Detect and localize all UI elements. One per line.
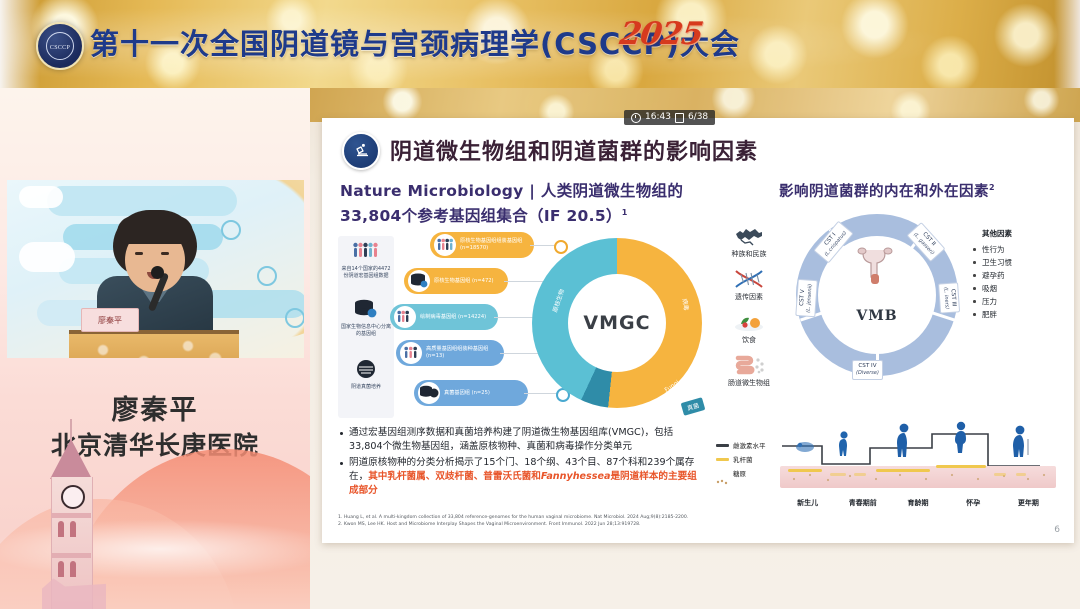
donut-segment-label: 病毒 bbox=[681, 298, 692, 311]
backdrop-card bbox=[19, 186, 63, 208]
vmgc-box: 绘制病毒基因组 (n=14224) bbox=[390, 304, 498, 330]
slide-right-column: 影响阴道菌群的内在和外在因素2 bbox=[714, 180, 1060, 201]
dna-icon bbox=[714, 267, 784, 291]
donut-center: VMGC bbox=[568, 274, 666, 372]
factor-item: 遗传因素 bbox=[714, 267, 784, 302]
stage-label: 青春期前 bbox=[835, 498, 890, 508]
other-factor-item: 压力 bbox=[970, 295, 1060, 308]
podium-texture bbox=[69, 334, 239, 358]
page-icon bbox=[675, 113, 684, 123]
vmgc-box: 真菌基因组 (n=25) bbox=[414, 380, 528, 406]
cst-state-label: CST III (L. iners) bbox=[938, 282, 960, 313]
vmgc-center-label: VMGC bbox=[583, 312, 650, 334]
lifecycle-figure: 雌激素水平 乳杆菌 糖原 bbox=[714, 414, 1060, 510]
stage-label: 新生儿 bbox=[780, 498, 835, 508]
vmgc-box-name: 原核生物基因组 bbox=[434, 278, 470, 284]
uterus-icon bbox=[854, 244, 900, 291]
vmgc-box-name: 真菌基因组 bbox=[444, 390, 470, 396]
other-factor-item: 避孕药 bbox=[970, 269, 1060, 282]
left-bullet-list: 通过宏基因组测序数据和真菌培养构建了阴道微生物基因组库(VMGC)，包括33,8… bbox=[338, 426, 698, 500]
tower-band bbox=[51, 553, 91, 558]
lactobacillus-bar bbox=[854, 473, 866, 476]
microphone-head-icon bbox=[151, 266, 164, 279]
donut-fungi-tag: 真菌 bbox=[681, 397, 706, 416]
legend-swatch-lactobacillus bbox=[716, 458, 729, 461]
connector-line bbox=[524, 393, 560, 394]
cst-species: (L. jensenii) bbox=[806, 283, 815, 313]
vmgc-box: 高质量基因组组装种基因组 (n=13) bbox=[396, 340, 504, 366]
lactobacillus-bar bbox=[994, 473, 1006, 476]
database-icon bbox=[352, 298, 380, 320]
legend-label: 雌激素水平 bbox=[733, 440, 766, 450]
legend-row: 乳杆菌 bbox=[716, 454, 778, 464]
people-group-icon bbox=[352, 240, 380, 262]
vmgc-donut-chart: VMGC 原核生物 病毒 Fungi bbox=[532, 238, 702, 408]
vmgc-box-count: (n=472) bbox=[472, 278, 494, 284]
other-factors-items: 性行为 卫生习惯 避孕药 吸烟 压力 肥胖 bbox=[970, 243, 1060, 321]
vmgc-box-name: 高质量基因组组装种基因组 bbox=[426, 346, 488, 352]
factor-label: 饮食 bbox=[714, 335, 784, 345]
elder-woman-icon bbox=[1010, 425, 1032, 462]
vmgc-source-label: 国家生物信息中心分离的基因组 bbox=[340, 324, 392, 338]
database-icon bbox=[418, 382, 440, 404]
factor-item: 种族和民族 bbox=[714, 224, 784, 259]
donut-segment-label: 原核生物 bbox=[550, 288, 566, 314]
people-icon bbox=[434, 234, 456, 256]
world-map-icon bbox=[714, 224, 784, 248]
tower-roof bbox=[50, 439, 92, 479]
connector-node bbox=[554, 240, 568, 254]
speaker-eye bbox=[135, 252, 143, 255]
podium bbox=[69, 330, 239, 358]
slide-title: 阴道微生物组和阴道菌群的影响因素 bbox=[390, 134, 758, 166]
tower-window bbox=[70, 521, 76, 537]
left-heading-text: Nature Microbiology | 人类阴道微生物组的33,804个参考… bbox=[340, 182, 683, 225]
vmgc-box-label: 绘制病毒基因组 (n=14224) bbox=[420, 314, 486, 321]
reference-list: 1. Huang L, et al. A multi-kingdom colle… bbox=[338, 514, 808, 528]
right-heading: 影响阴道菌群的内在和外在因素2 bbox=[714, 180, 1060, 201]
reference-item: 2. Kwon MS, Lee HK. Host and Microbiome … bbox=[338, 521, 808, 528]
legend-label: 乳杆菌 bbox=[733, 454, 753, 464]
speaker-video[interactable]: 廖秦平 bbox=[7, 180, 304, 358]
legend-swatch-glycogen bbox=[716, 472, 729, 475]
child-icon bbox=[836, 431, 852, 462]
slide-counter: 6/38 bbox=[688, 110, 708, 125]
lactobacillus-bar bbox=[830, 473, 846, 476]
cst-name: CST V bbox=[799, 289, 806, 306]
slide-header: 阴道微生物组和阴道菌群的影响因素 bbox=[322, 124, 1074, 176]
slide-left-column: Nature Microbiology | 人类阴道微生物组的33,804个参考… bbox=[340, 180, 708, 227]
banner-left-fade bbox=[0, 0, 40, 88]
conference-logo-icon: CSCCP bbox=[36, 22, 84, 70]
banner-right-fade bbox=[1054, 0, 1080, 88]
bullet-highlight-italic: Fannyhessea bbox=[541, 471, 611, 482]
speaker-fringe bbox=[117, 216, 193, 244]
cst-species: (Diverse) bbox=[856, 370, 879, 377]
other-factor-item: 卫生习惯 bbox=[970, 256, 1060, 269]
stage-label: 怀孕 bbox=[946, 498, 1001, 508]
tower-spire bbox=[70, 419, 72, 441]
vmgc-box-label: 高质量基因组组装种基因组 (n=13) bbox=[426, 346, 504, 360]
cst-ring-diagram: VMB CST I (L.crispatus) CST II (L. gasse… bbox=[796, 214, 958, 376]
vmb-factors-figure: 种族和民族 遗传因素 bbox=[714, 210, 1060, 416]
pregnant-woman-icon bbox=[952, 421, 972, 458]
vmgc-box-count: (n=14224) bbox=[458, 314, 486, 320]
vmgc-box-count: (n=18570) bbox=[460, 245, 488, 251]
vmgc-source-label: 阴道真菌培养 bbox=[340, 384, 392, 391]
factor-label: 肠道微生物组 bbox=[714, 378, 784, 388]
reference-item: 1. Huang L, et al. A multi-kingdom colle… bbox=[338, 514, 808, 521]
tower-window bbox=[70, 561, 76, 577]
legend-row: 雌激素水平 bbox=[716, 440, 778, 450]
clock-icon bbox=[631, 113, 641, 123]
legend-swatch-estrogen bbox=[716, 444, 729, 447]
other-factor-item: 吸烟 bbox=[970, 282, 1060, 295]
intrinsic-factor-list: 种族和民族 遗传因素 bbox=[714, 224, 784, 396]
presentation-slide[interactable]: 阴道微生物组和阴道菌群的影响因素 Nature Microbiology | 人… bbox=[322, 118, 1074, 543]
other-factors-list: 其他因素 性行为 卫生习惯 避孕药 吸烟 压力 肥胖 bbox=[970, 228, 1060, 321]
slide-page-number: 6 bbox=[1054, 525, 1060, 535]
vmgc-box-count: (n=25) bbox=[472, 390, 490, 396]
vmgc-box-name: 原核生物基因组组装基因组 bbox=[460, 238, 522, 244]
speaker-eye bbox=[161, 252, 169, 255]
legend-label: 糖原 bbox=[733, 468, 746, 478]
donut-segment-label: Fungi bbox=[663, 379, 680, 394]
other-factor-item: 性行为 bbox=[970, 243, 1060, 256]
vmgc-box-label: 原核生物基因组 (n=472) bbox=[434, 278, 494, 285]
vmgc-box: 原核生物基因组 (n=472) bbox=[404, 268, 508, 294]
bullet-item: 阴道原核物种的分类分析揭示了15个门、18个纲、43个目、87个科和239个属存… bbox=[338, 456, 698, 498]
vmgc-box-name: 绘制病毒基因组 bbox=[420, 314, 456, 320]
tower-window bbox=[58, 521, 64, 537]
right-heading-text: 影响阴道菌群的内在和外在因素 bbox=[779, 184, 989, 200]
vmgc-figure: 来自14个国家的4472份阴道宏基因组数据 国家生物信息中心分离的基因组 bbox=[338, 230, 698, 425]
vmgc-source-panel: 来自14个国家的4472份阴道宏基因组数据 国家生物信息中心分离的基因组 bbox=[338, 236, 394, 418]
conference-banner: CSCCP 第十一次全国阴道镜与宫颈病理学(CSCCP)大会 2025 bbox=[0, 0, 1080, 88]
speaker-nameplate-text: 廖秦平 bbox=[98, 315, 122, 326]
cst-species: (L. iners) bbox=[941, 287, 950, 310]
bullet-item: 通过宏基因组测序数据和真菌培养构建了阴道微生物基因组库(VMGC)，包括33,8… bbox=[338, 426, 698, 454]
tower-clock-face bbox=[61, 485, 85, 509]
microscope-icon bbox=[342, 132, 380, 170]
lactobacillus-bar bbox=[876, 469, 930, 472]
backdrop-ring bbox=[221, 220, 241, 240]
factor-item: 饮食 bbox=[714, 310, 784, 345]
speaker-panel: 廖秦平 廖秦平 北京清华长庚医院 bbox=[0, 88, 310, 609]
right-heading-sup: 2 bbox=[989, 183, 995, 192]
factor-label: 种族和民族 bbox=[714, 249, 784, 259]
cst-state-label: CST V (L. jensenii) bbox=[795, 279, 818, 317]
factor-label: 遗传因素 bbox=[714, 292, 784, 302]
vmgc-source-label: 来自14个国家的4472份阴道宏基因组数据 bbox=[340, 266, 392, 280]
conference-year: 2025 bbox=[617, 16, 704, 52]
cst-state-label: CST IV (Diverse) bbox=[852, 360, 883, 380]
stage-label: 育龄期 bbox=[890, 498, 945, 508]
lifecycle-legend: 雌激素水平 乳杆菌 糖原 bbox=[716, 440, 778, 482]
lactobacillus-bar bbox=[788, 469, 822, 472]
bullet-highlight: 其中乳杆菌属、双歧杆菌、普雷沃氏菌和 bbox=[368, 471, 541, 482]
people-icon bbox=[400, 342, 422, 364]
lifecycle-axis-labels: 新生儿 青春期前 育龄期 怀孕 更年期 bbox=[780, 498, 1056, 508]
left-heading-sup: 1 bbox=[622, 208, 628, 217]
cst-name: CST III bbox=[949, 289, 956, 307]
tower-band bbox=[51, 513, 91, 518]
vmgc-box-count: (n=13) bbox=[426, 353, 444, 359]
database-icon bbox=[408, 270, 430, 292]
clock-tower-icon bbox=[42, 419, 106, 609]
food-icon bbox=[714, 310, 784, 334]
factor-item: 肠道微生物组 bbox=[714, 353, 784, 388]
adult-woman-icon bbox=[894, 423, 914, 462]
tower-window bbox=[58, 561, 64, 577]
other-factors-title: 其他因素 bbox=[970, 228, 1060, 239]
backdrop-ring bbox=[257, 266, 277, 286]
bullet-text: 通过宏基因组测序数据和真菌培养构建了阴道微生物基因组库(VMGC)，包括33,8… bbox=[349, 427, 673, 452]
gut-microbiome-icon bbox=[714, 353, 784, 377]
left-heading: Nature Microbiology | 人类阴道微生物组的33,804个参考… bbox=[340, 180, 708, 227]
cst-name: CST IV bbox=[858, 363, 876, 369]
backdrop-card bbox=[19, 242, 75, 272]
lactobacillus-bar bbox=[1016, 473, 1026, 476]
player-progress-badge: 16:43 6/38 bbox=[624, 110, 715, 125]
lifecycle-plot: 新生儿 青春期前 育龄期 怀孕 更年期 bbox=[780, 416, 1056, 510]
vmgc-box-label: 真菌基因组 (n=25) bbox=[444, 390, 490, 397]
stage-label: 更年期 bbox=[1001, 498, 1056, 508]
fungus-culture-icon bbox=[352, 358, 380, 380]
conference-logo-text: CSCCP bbox=[50, 45, 70, 51]
vmgc-box: 原核生物基因组组装基因组 (n=18570) bbox=[430, 232, 534, 258]
legend-row: 糖原 bbox=[716, 468, 778, 478]
lactobacillus-bar bbox=[936, 465, 986, 468]
other-factor-item: 肥胖 bbox=[970, 308, 1060, 321]
speaker-nameplate: 廖秦平 bbox=[81, 308, 139, 332]
backdrop-ring bbox=[285, 308, 304, 328]
decorative-mountains bbox=[0, 399, 310, 609]
elapsed-time: 16:43 bbox=[645, 110, 671, 125]
vmgc-box-label: 原核生物基因组组装基因组 (n=18570) bbox=[460, 238, 534, 252]
newborn-icon bbox=[794, 439, 816, 460]
vmb-center-label: VMB bbox=[856, 308, 897, 324]
screenshot-root: CSCCP 第十一次全国阴道镜与宫颈病理学(CSCCP)大会 2025 bbox=[0, 0, 1080, 609]
people-icon bbox=[394, 306, 416, 328]
